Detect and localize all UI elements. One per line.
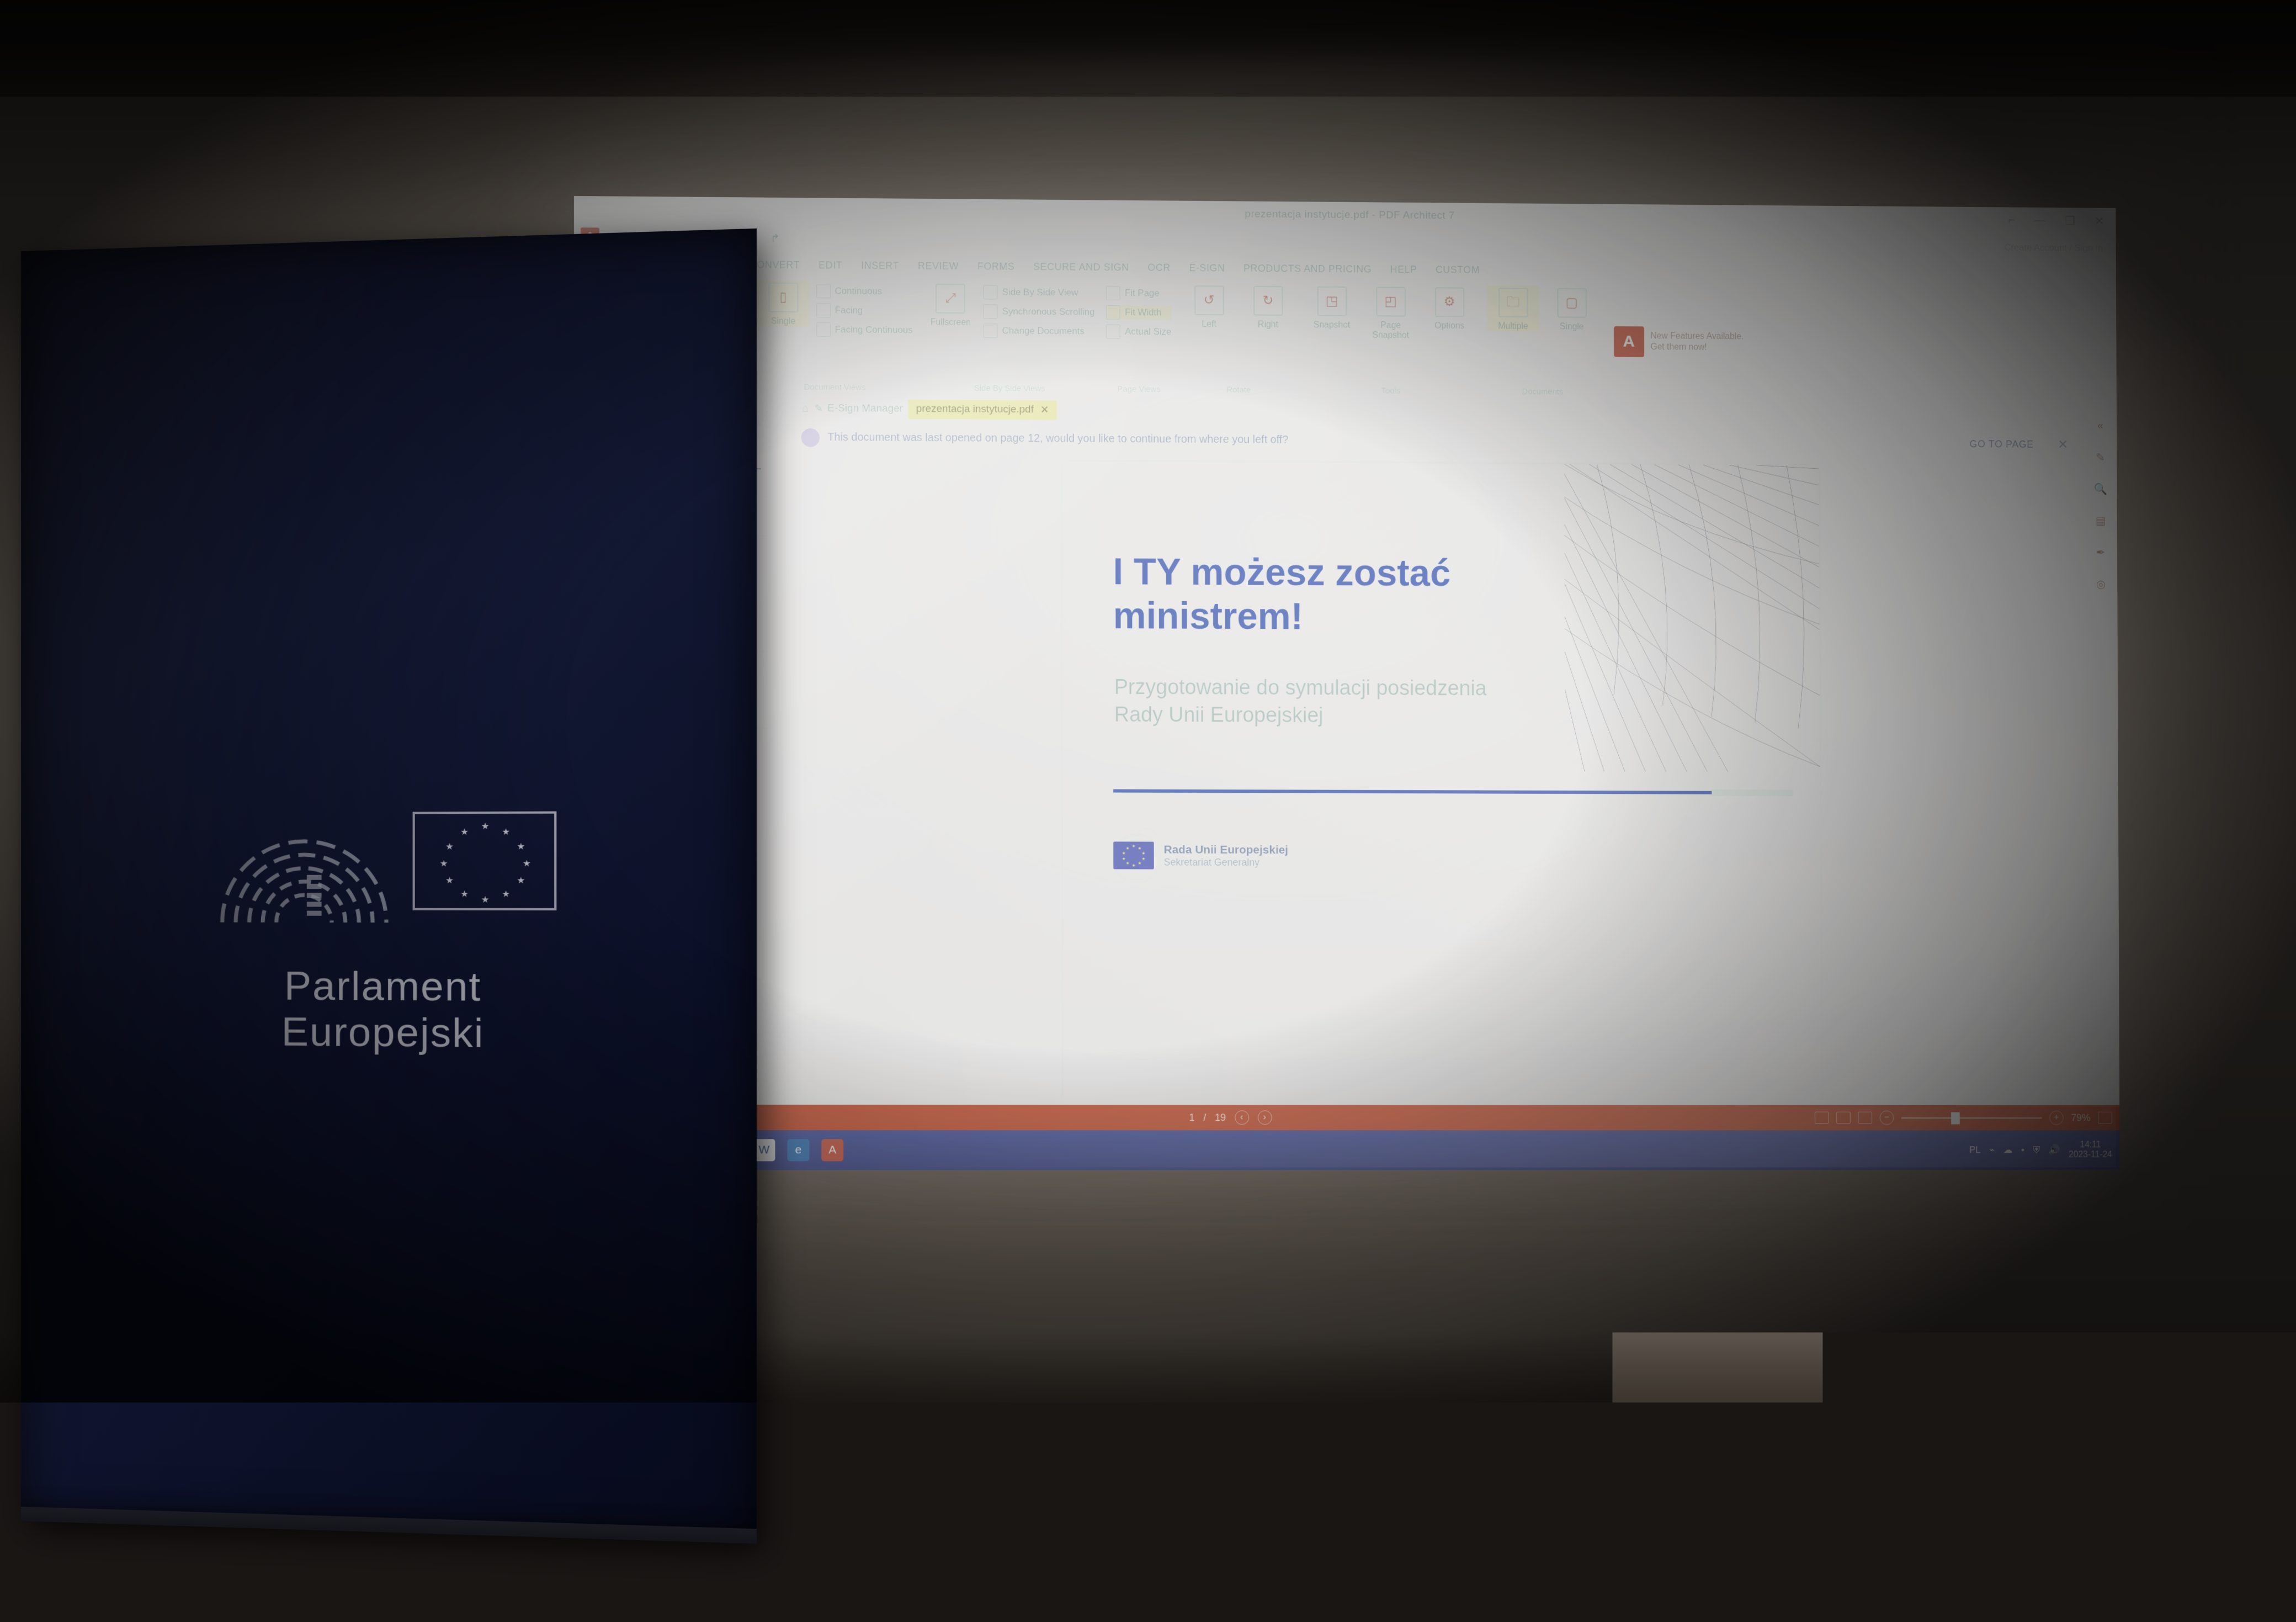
zoom-level-label[interactable]: 79%: [2071, 1112, 2090, 1123]
ribbon-group-tools: ◳ Snapshot ◰ Page Snapshot ⚙ Options Too…: [1300, 280, 1482, 399]
close-icon[interactable]: ✕: [1040, 404, 1049, 416]
e-sign-icon: ✎: [814, 402, 823, 415]
european-parliament-logo: [185, 789, 584, 931]
window-controls[interactable]: ⌐ — ❐ ✕: [2008, 214, 2104, 228]
side-by-side-label: Side By Side View: [1002, 287, 1078, 299]
clock-time: 14:11: [2069, 1140, 2112, 1150]
fit-width-icon: [1106, 305, 1120, 320]
comment-tool-icon[interactable]: ▤: [2091, 511, 2110, 531]
windows-taskbar: ▭ ▤ O ◉ ◎ W e A PL ⌁ ☁ • ⛨ 🔊 14:11 2023: [574, 1130, 2120, 1170]
tab-custom[interactable]: CUSTOM: [1426, 257, 1489, 282]
fullscreen-label: Fullscreen: [931, 317, 971, 328]
taskbar-edge-icon[interactable]: e: [787, 1139, 809, 1161]
fit-width-label: Fit Width: [1125, 307, 1161, 318]
rotate-right-label: Right: [1258, 320, 1278, 331]
tab-edit[interactable]: EDIT: [809, 253, 852, 277]
close-icon[interactable]: ✕: [2050, 437, 2076, 453]
facing-continuous-view-button[interactable]: Facing Continuous: [816, 322, 913, 337]
slide-subtitle: Przygotowanie do symulacji posiedzenia R…: [1114, 674, 1518, 730]
page-snapshot-label: Page Snapshot: [1364, 321, 1417, 341]
rotate-right-button[interactable]: ↻ Right: [1242, 284, 1294, 331]
fit-page-icon: [1106, 286, 1120, 300]
tray-shield-icon[interactable]: ⛨: [2033, 1144, 2040, 1155]
synchronous-scrolling-label: Synchronous Scrolling: [1002, 306, 1095, 317]
go-to-page-button[interactable]: GO TO PAGE: [1961, 435, 2043, 454]
status-bar-page-nav: 1 / 19 ‹ ›: [649, 1110, 1806, 1125]
side-by-side-view-button[interactable]: Side By Side View: [984, 285, 1095, 300]
page-area[interactable]: I TY możesz zostać ministrem! Przygotowa…: [794, 454, 2086, 1105]
facing-continuous-icon: [816, 322, 831, 337]
e-sign-manager-label: E-Sign Manager: [827, 402, 903, 415]
side-by-side-icon: [984, 285, 998, 299]
single-page-view-icon[interactable]: [1815, 1112, 1829, 1124]
edit-tool-icon[interactable]: ✎: [2091, 447, 2110, 467]
rotate-left-button[interactable]: ↺ Left: [1183, 283, 1235, 330]
actual-size-icon: [1106, 325, 1120, 339]
fullscreen-button[interactable]: ⤢ Fullscreen: [924, 282, 977, 328]
slide-accent-rule: [1113, 789, 1718, 794]
zoom-slider[interactable]: [1901, 1117, 2042, 1119]
pdf-architect-window: prezentacja instytucje.pdf - PDF Archite…: [574, 196, 2120, 1170]
conference-room-scene: prezentacja instytucje.pdf - PDF Archite…: [0, 0, 2296, 1622]
multiple-documents-icon: 🗀: [1498, 288, 1528, 317]
parlament-europejski-banner: Parlament Europejski: [21, 229, 757, 1544]
search-icon[interactable]: 🔍: [2091, 479, 2110, 499]
fullscreen-toggle-icon[interactable]: [2098, 1112, 2112, 1124]
language-indicator[interactable]: PL: [1969, 1144, 1980, 1155]
group-label-page-views: Page Views: [1107, 384, 1172, 397]
workspace: EDIT MODULES ▤ ▥ ▦ ⚓ Page Preview: [574, 394, 2119, 1105]
page-snapshot-button[interactable]: ◰ Page Snapshot: [1364, 284, 1417, 341]
facing-page-view-icon[interactable]: [1836, 1112, 1851, 1124]
facing-view-button[interactable]: Facing: [816, 303, 913, 318]
change-documents-icon: [984, 324, 998, 338]
change-documents-label: Change Documents: [1002, 325, 1085, 337]
tray-volume-icon[interactable]: 🔊: [2049, 1144, 2060, 1155]
single-document-icon: ▢: [1557, 288, 1586, 318]
snapshot-icon: ◳: [1317, 287, 1346, 316]
eu-flag-icon: [1113, 841, 1154, 869]
council-name: Rada Unii Europejskiej: [1164, 843, 1289, 857]
rotate-right-icon: ↻: [1253, 286, 1283, 316]
continuous-label: Continuous: [835, 285, 883, 297]
options-button[interactable]: ⚙ Options: [1423, 285, 1476, 331]
signature-tool-icon[interactable]: ✒: [2091, 542, 2111, 562]
status-page-separator: /: [1203, 1112, 1206, 1123]
group-label-rotate: Rotate: [1183, 385, 1294, 398]
synchronous-scrolling-icon: [984, 304, 998, 319]
facing-continuous-label: Facing Continuous: [835, 324, 913, 336]
ribbon-group-page-views: Fit Page Fit Width Actual Size: [1101, 279, 1177, 397]
eu-flag-icon: [413, 811, 557, 910]
redo-icon[interactable]: ↱: [766, 229, 784, 248]
close-icon[interactable]: ✕: [2095, 214, 2104, 228]
continuous-icon: [816, 284, 831, 298]
status-page-total: 19: [1215, 1112, 1226, 1123]
single-view-button[interactable]: ▯ Single: [757, 280, 810, 327]
tray-cloud-icon[interactable]: ☁: [2003, 1144, 2013, 1155]
gear-icon: ⚙: [1434, 287, 1464, 317]
facing-icon: [816, 303, 831, 317]
ribbon-group-rotate: ↺ Left ↻ Right Rotate: [1177, 280, 1300, 398]
stamp-tool-icon[interactable]: ◎: [2091, 574, 2111, 594]
group-label-side-by-side-views: Side By Side Views: [924, 383, 1095, 397]
clock-date: 2023-11-24: [2069, 1150, 2112, 1160]
actual-size-button[interactable]: Actual Size: [1106, 325, 1171, 340]
notification-message: This document was last opened on page 12…: [827, 431, 1953, 450]
synchronous-scrolling-button[interactable]: Synchronous Scrolling: [984, 304, 1095, 319]
promo-line-2: Get them now!: [1650, 342, 1707, 352]
continuous-view-button[interactable]: Continuous: [816, 284, 913, 299]
multiple-documents-button[interactable]: 🗀 Multiple: [1487, 285, 1539, 332]
page-snapshot-icon: ◰: [1376, 287, 1405, 316]
tab-help[interactable]: HELP: [1381, 257, 1426, 282]
ribbon-group-document-views: ▯ Single Continuous Facing: [751, 277, 919, 396]
maximize-icon[interactable]: —: [2034, 214, 2046, 227]
slide-title: I TY możesz zostać ministrem!: [1113, 549, 1538, 639]
snapshot-label: Snapshot: [1314, 320, 1351, 331]
projection-screen: prezentacja instytucje.pdf - PDF Archite…: [574, 196, 2120, 1170]
architectural-mesh-graphic: [1564, 464, 1820, 772]
rotate-left-icon: ↺: [1194, 285, 1224, 315]
account-link[interactable]: Create Account / Sign In: [2004, 242, 2116, 254]
multiple-documents-label: Multiple: [1498, 322, 1528, 332]
single-document-button[interactable]: ▢ Single: [1545, 286, 1598, 332]
fit-width-button[interactable]: Fit Width: [1106, 305, 1171, 320]
minimize-icon[interactable]: ⌐: [2008, 214, 2015, 227]
group-label-document-views: Document Views: [757, 382, 913, 396]
ribbon-group-side-by-side-views: ⤢ Fullscreen Side By Side View Synchrono…: [919, 278, 1101, 397]
taskbar-clock[interactable]: 14:11 2023-11-24: [2069, 1140, 2112, 1160]
new-features-promo[interactable]: A New Features Available. Get them now!: [1604, 283, 1754, 401]
tab-products-and-pricing[interactable]: PRODUCTS AND PRICING: [1234, 256, 1381, 282]
status-page-current: 1: [1189, 1112, 1194, 1123]
active-document-tab[interactable]: prezentacja instytucje.pdf ✕: [908, 399, 1057, 420]
promo-line-1: New Features Available.: [1650, 331, 1744, 341]
zoom-in-icon[interactable]: +: [2049, 1111, 2064, 1125]
rotate-left-label: Left: [1202, 320, 1216, 330]
options-label: Options: [1434, 321, 1464, 332]
tab-insert[interactable]: INSERT: [852, 253, 908, 278]
window-title: prezentacja instytucje.pdf - PDF Archite…: [574, 203, 2116, 227]
zoom-out-icon[interactable]: −: [1880, 1111, 1894, 1125]
next-page-icon[interactable]: ›: [1257, 1110, 1272, 1125]
group-label-documents: Documents: [1487, 387, 1598, 400]
group-label-tools: Tools: [1306, 386, 1476, 400]
previous-page-icon[interactable]: ‹: [1235, 1110, 1249, 1125]
status-bar-right: − + 79%: [1815, 1111, 2112, 1125]
e-sign-manager-tab[interactable]: ✎ E-Sign Manager: [814, 402, 903, 415]
continuous-view-icon[interactable]: [1858, 1112, 1872, 1124]
facing-label: Facing: [835, 305, 863, 316]
zoom-slider-knob[interactable]: [1951, 1112, 1960, 1124]
tab-forms[interactable]: FORMS: [968, 254, 1024, 279]
fit-page-button[interactable]: Fit Page: [1106, 286, 1171, 301]
snapshot-button[interactable]: ◳ Snapshot: [1306, 284, 1358, 331]
single-view-label: Single: [771, 317, 795, 327]
tab-secure-and-sign[interactable]: SECURE AND SIGN: [1024, 255, 1138, 279]
home-tab-icon[interactable]: ⌂: [802, 402, 809, 415]
status-bar: 1 / 19 ‹ › − + 79%: [574, 1105, 2119, 1131]
tray-dot-icon[interactable]: •: [2021, 1144, 2024, 1155]
slide-accent-rule-tail: [1712, 789, 1793, 796]
pdf-page: I TY możesz zostać ministrem! Przygotowa…: [1062, 461, 1821, 1105]
active-document-tab-label: prezentacja instytucje.pdf: [916, 403, 1034, 416]
single-page-icon: ▯: [768, 283, 798, 312]
tray-network-icon[interactable]: ⌁: [1989, 1144, 1995, 1155]
notification-icon: [801, 428, 820, 447]
fit-page-label: Fit Page: [1125, 288, 1160, 299]
right-tool-rail: « ✎ 🔍 ▤ ✒ ◎: [2083, 404, 2119, 1105]
document-viewer: ⌂ ✎ E-Sign Manager prezentacja instytucj…: [793, 396, 2086, 1105]
system-tray: PL ⌁ ☁ • ⛨ 🔊 14:11 2023-11-24: [1969, 1140, 2112, 1160]
pdf-architect-logo-icon: A: [1613, 326, 1644, 357]
banner-title: Parlament Europejski: [185, 963, 584, 1057]
ribbon: Bookmarks Page Preview Previous: [574, 275, 2117, 404]
expand-panel-icon[interactable]: «: [2091, 416, 2110, 436]
tab-ocr[interactable]: OCR: [1139, 256, 1180, 280]
change-documents-button[interactable]: Change Documents: [984, 324, 1095, 338]
european-parliament-hemicycle-icon: [211, 791, 397, 931]
taskbar-pdf-architect-icon[interactable]: A: [821, 1139, 843, 1161]
tab-review[interactable]: REVIEW: [908, 253, 968, 278]
actual-size-label: Actual Size: [1125, 326, 1171, 337]
restore-icon[interactable]: ❐: [2065, 214, 2075, 228]
tab-e-sign[interactable]: E-SIGN: [1180, 256, 1235, 280]
single-document-label: Single: [1560, 322, 1584, 332]
ribbon-group-documents: 🗀 Multiple ▢ Single Documents: [1481, 282, 1604, 400]
fullscreen-icon: ⤢: [936, 284, 965, 314]
council-of-eu-logo: Rada Unii Europejskiej Sekretariat Gener…: [1113, 841, 1288, 870]
banner-logo-block: Parlament Europejski: [185, 789, 584, 1057]
council-subtitle: Sekretariat Generalny: [1164, 856, 1289, 868]
